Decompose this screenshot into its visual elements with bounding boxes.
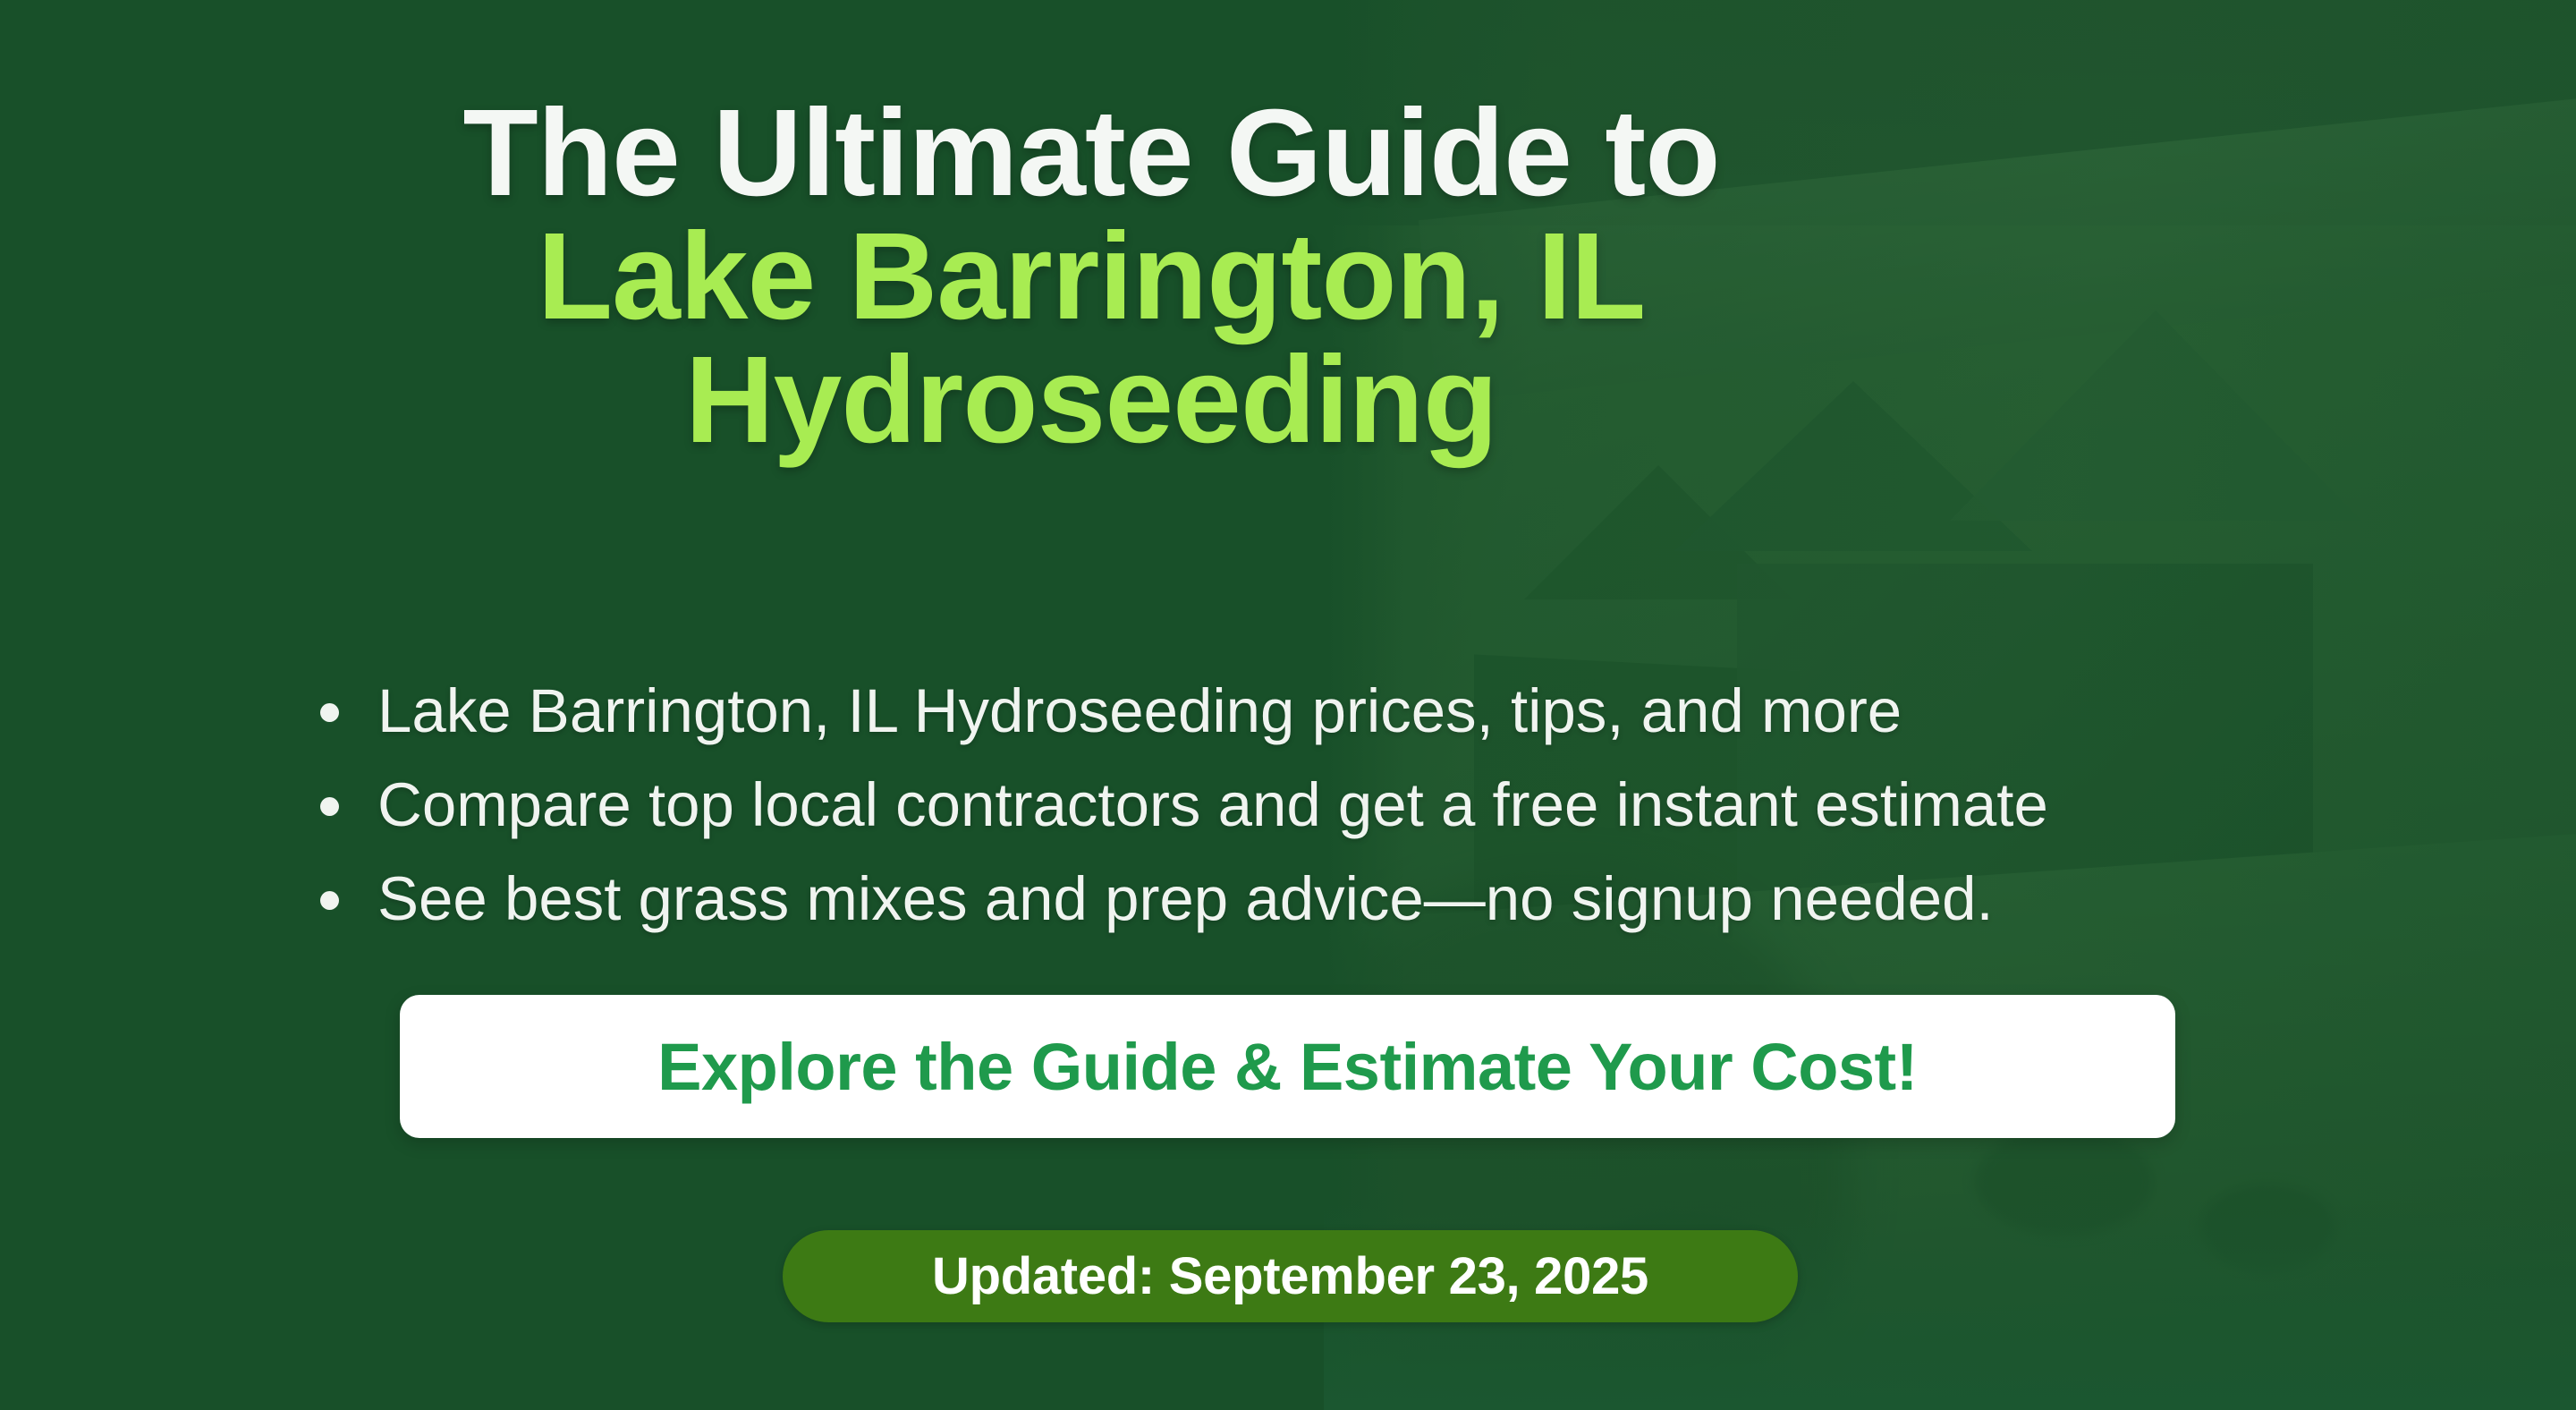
list-item: Compare top local contractors and get a … — [320, 758, 2048, 852]
headline-line-2: Lake Barrington, IL — [0, 215, 2182, 338]
page-title: The Ultimate Guide to Lake Barrington, I… — [0, 91, 2182, 462]
list-item-label: Lake Barrington, IL Hydroseeding prices,… — [377, 676, 1902, 745]
list-item-label: Compare top local contractors and get a … — [377, 770, 2048, 839]
bullet-dot-icon — [320, 891, 339, 910]
headline-line-3: Hydroseeding — [0, 338, 2182, 462]
bullet-dot-icon — [320, 703, 339, 722]
list-item: See best grass mixes and prep advice—no … — [320, 852, 2048, 946]
feature-bullet-list: Lake Barrington, IL Hydroseeding prices,… — [320, 664, 2048, 946]
hero-banner: The Ultimate Guide to Lake Barrington, I… — [0, 0, 2576, 1410]
updated-date-label: Updated: September 23, 2025 — [932, 1246, 1648, 1306]
headline-line-1: The Ultimate Guide to — [0, 91, 2182, 215]
explore-guide-cta-button[interactable]: Explore the Guide & Estimate Your Cost! — [400, 995, 2175, 1138]
list-item: Lake Barrington, IL Hydroseeding prices,… — [320, 664, 2048, 758]
cta-button-label: Explore the Guide & Estimate Your Cost! — [657, 1029, 1918, 1105]
updated-date-badge: Updated: September 23, 2025 — [783, 1230, 1798, 1322]
banner-content: The Ultimate Guide to Lake Barrington, I… — [0, 0, 2576, 1410]
bullet-dot-icon — [320, 797, 339, 816]
list-item-label: See best grass mixes and prep advice—no … — [377, 864, 1994, 933]
